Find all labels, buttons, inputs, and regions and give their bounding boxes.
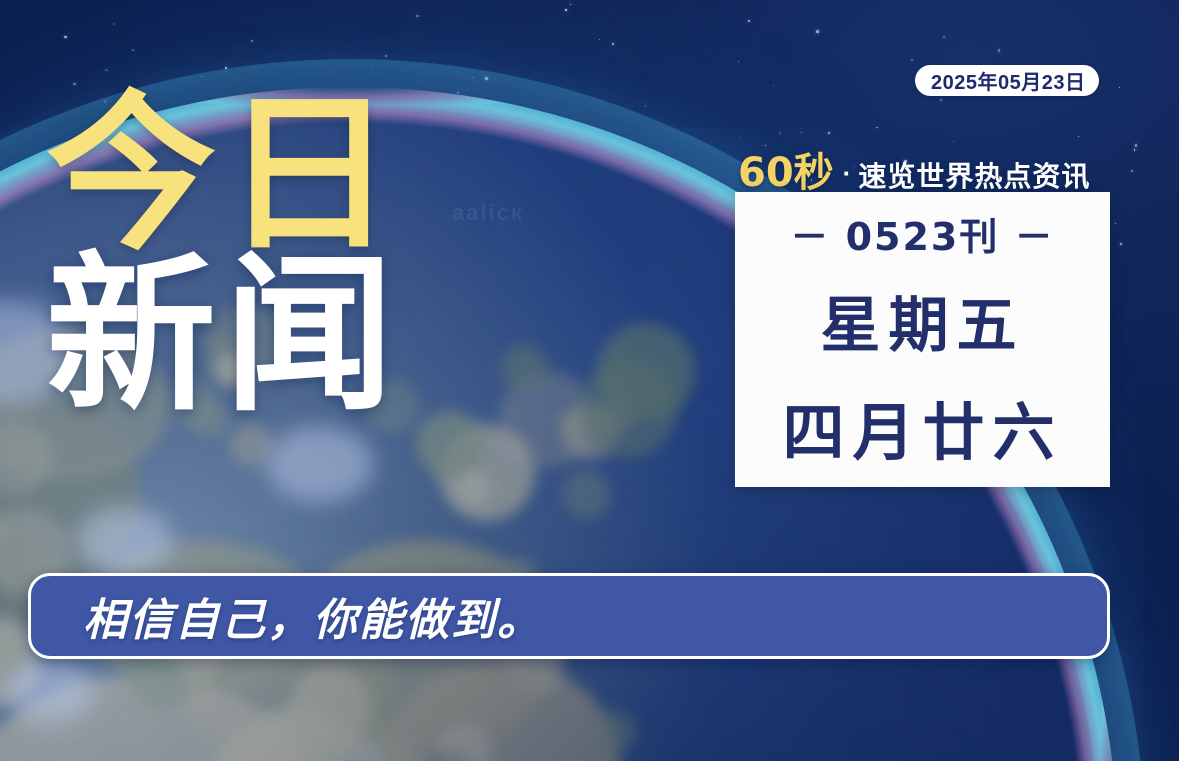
background-watermark: aalicк: [452, 200, 524, 226]
date-badge: 2025年05月23日: [915, 65, 1099, 96]
page-title: 今日 新闻: [46, 92, 402, 419]
tagline: 60秒 · 速览世界热点资讯: [738, 140, 1090, 198]
title-line-xinwen: 新闻: [46, 253, 402, 420]
tagline-text: 速览世界热点资讯: [858, 155, 1090, 195]
card-weekday: 星期五: [821, 277, 1025, 364]
tagline-separator-dot: ·: [843, 158, 852, 189]
title-line-jinri: 今日: [46, 92, 402, 259]
news-poster: aalicк 今日 新闻 2025年05月23日 60秒 · 速览世界热点资讯 …: [0, 0, 1179, 761]
date-card: － 0523刊 － 星期五 四月廿六: [735, 192, 1110, 487]
date-badge-label: 2025年05月23日: [931, 66, 1085, 95]
tagline-number: 60秒: [738, 140, 834, 198]
card-lunar-date: 四月廿六: [782, 382, 1062, 472]
card-issue-number: － 0523刊 －: [790, 206, 1054, 261]
quote-banner: 相信自己，你能做到。: [28, 573, 1110, 659]
quote-text: 相信自己，你能做到。: [83, 584, 543, 648]
